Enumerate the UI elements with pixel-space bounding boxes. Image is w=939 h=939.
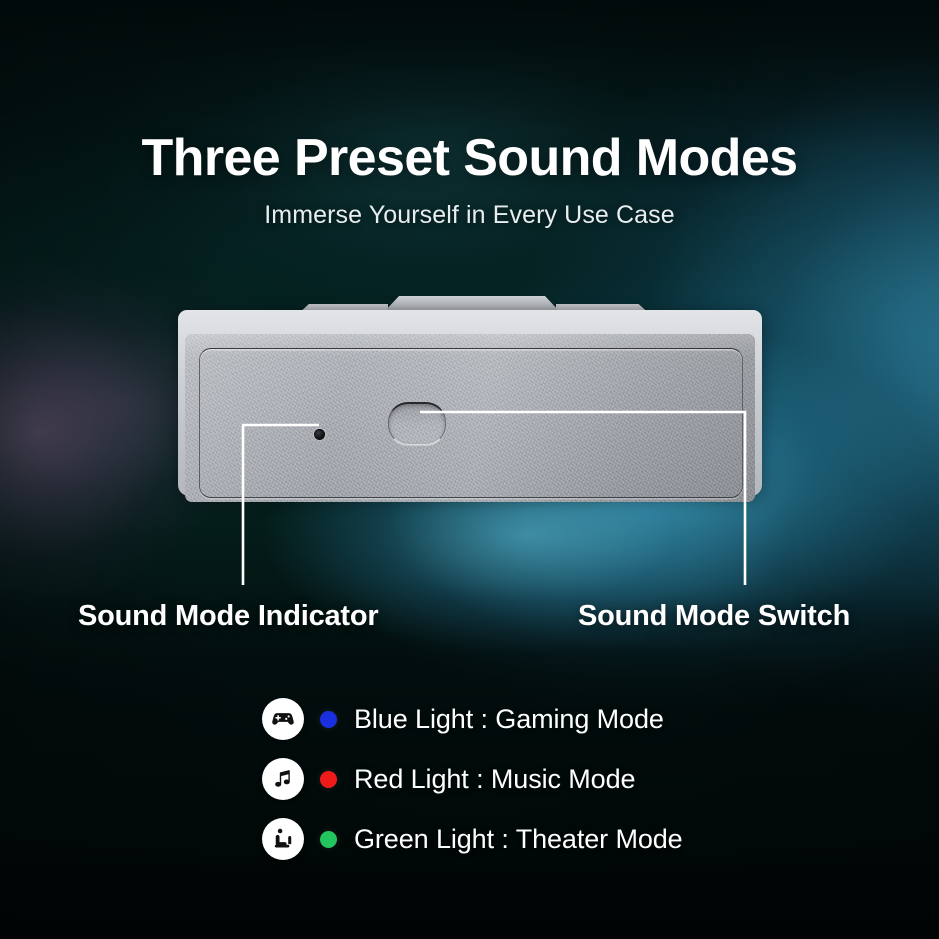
status-dot-green bbox=[320, 831, 337, 848]
page-title: Three Preset Sound Modes bbox=[0, 128, 939, 188]
status-dot-red bbox=[320, 771, 337, 788]
legend-label-music: Red Light : Music Mode bbox=[354, 764, 635, 795]
theater-seat-icon bbox=[262, 818, 304, 860]
sound-mode-switch-button[interactable] bbox=[388, 402, 446, 445]
page-subtitle: Immerse Yourself in Every Use Case bbox=[0, 201, 939, 230]
legend-item-music: Red Light : Music Mode bbox=[262, 758, 683, 800]
gamepad-icon bbox=[262, 698, 304, 740]
sound-mode-indicator-led bbox=[314, 429, 325, 440]
device-front-panel bbox=[185, 334, 755, 502]
speaker-device bbox=[178, 296, 762, 496]
status-dot-blue bbox=[320, 711, 337, 728]
legend-label-theater: Green Light : Theater Mode bbox=[354, 824, 683, 855]
legend-label-gaming: Blue Light : Gaming Mode bbox=[354, 704, 664, 735]
callout-label-indicator: Sound Mode Indicator bbox=[78, 600, 379, 633]
device-sheen-overlay bbox=[185, 334, 755, 502]
music-note-icon bbox=[262, 758, 304, 800]
device-body-bevel bbox=[178, 310, 762, 496]
legend-item-theater: Green Light : Theater Mode bbox=[262, 818, 683, 860]
sound-mode-legend: Blue Light : Gaming Mode Red Light : Mus… bbox=[262, 698, 683, 860]
infographic-canvas: Three Preset Sound Modes Immerse Yoursel… bbox=[0, 0, 939, 939]
callout-label-switch: Sound Mode Switch bbox=[578, 600, 850, 633]
legend-item-gaming: Blue Light : Gaming Mode bbox=[262, 698, 683, 740]
